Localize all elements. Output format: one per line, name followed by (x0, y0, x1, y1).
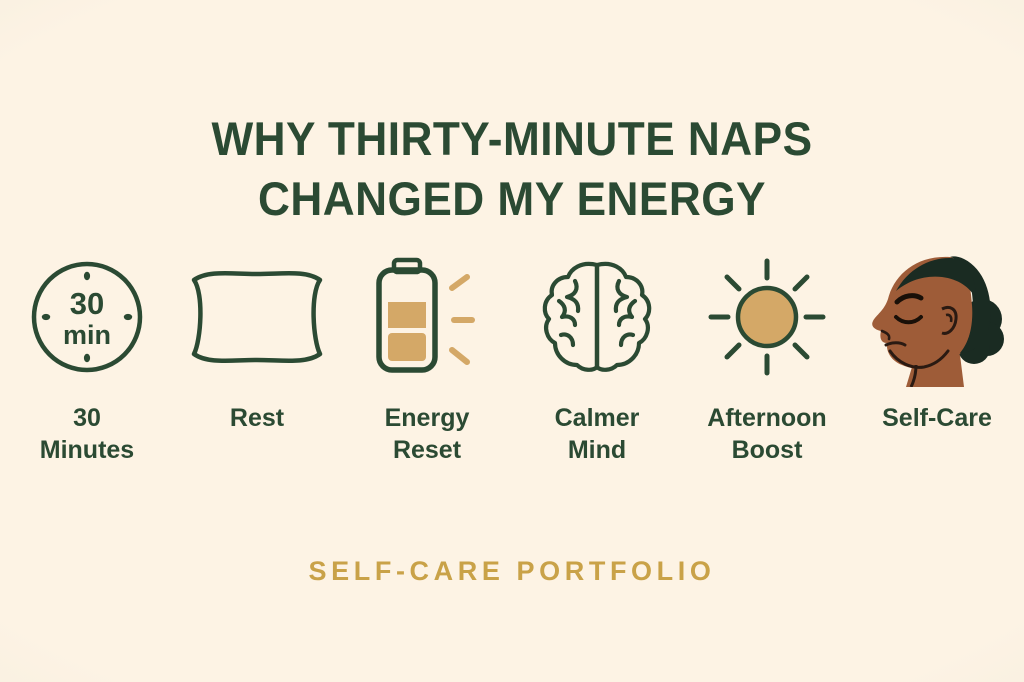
icon-wrap-brain (535, 248, 659, 386)
icon-wrap-pillow (182, 248, 332, 386)
infographic-canvas: WHY THIRTY-MINUTE NAPS CHANGED MY ENERGY… (0, 0, 1024, 682)
item-label-30-minutes: 30 Minutes (40, 402, 134, 466)
page-title: WHY THIRTY-MINUTE NAPS CHANGED MY ENERGY (31, 109, 994, 227)
item-afternoon-boost: Afternoon Boost (688, 248, 846, 466)
sun-icon (703, 253, 831, 381)
item-self-care: Self-Care (858, 248, 1016, 434)
pillow-icon (182, 262, 332, 372)
icon-wrap-clock: 30 min (27, 248, 147, 386)
item-label-rest: Rest (230, 402, 284, 434)
item-label-self-care: Self-Care (882, 402, 992, 434)
benefit-items-row: 30 min 30 Minutes Rest (8, 248, 1016, 466)
item-energy-reset: Energy Reset (348, 248, 506, 466)
icon-wrap-portrait (854, 248, 1020, 386)
clock-30-min-icon: 30 min (27, 257, 147, 377)
battery-charging-icon (362, 252, 492, 382)
footer-brand: SELF-CARE PORTFOLIO (0, 556, 1024, 587)
clock-small-text: min (63, 320, 111, 350)
item-rest: Rest (178, 248, 336, 434)
item-label-calmer-mind: Calmer Mind (555, 402, 640, 466)
title-line-1: WHY THIRTY-MINUTE NAPS (31, 109, 994, 168)
item-calmer-mind: Calmer Mind (518, 248, 676, 466)
icon-wrap-sun (703, 248, 831, 386)
brain-icon (535, 255, 659, 379)
item-label-energy-reset: Energy Reset (385, 402, 470, 466)
item-30-minutes: 30 min 30 Minutes (8, 248, 166, 466)
title-line-2: CHANGED MY ENERGY (31, 169, 994, 228)
item-label-afternoon-boost: Afternoon Boost (707, 402, 826, 466)
clock-big-text: 30 (70, 286, 104, 321)
icon-wrap-battery (362, 248, 492, 386)
woman-profile-portrait-icon (854, 247, 1020, 387)
